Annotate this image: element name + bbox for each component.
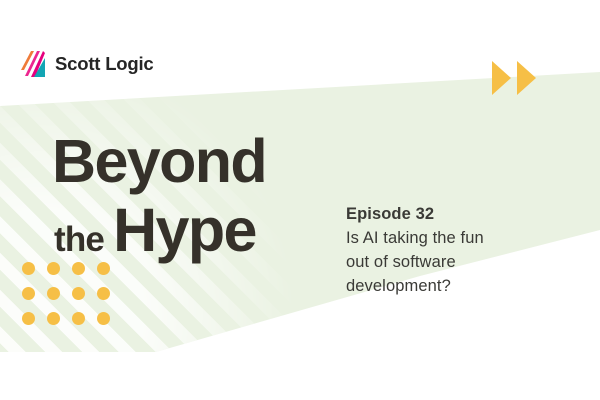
chevron-decoration-group [492, 61, 536, 95]
grid-dot [22, 287, 35, 300]
grid-dot [22, 312, 35, 325]
dot-grid-decoration [22, 262, 110, 325]
episode-info: Episode 32 Is AI taking the fun out of s… [346, 203, 484, 299]
show-title-the: the [54, 222, 104, 257]
scott-logic-swoosh-icon [20, 50, 46, 78]
play-chevron-icon [492, 61, 511, 95]
episode-title-line: out of software [346, 251, 484, 275]
grid-dot [72, 262, 85, 275]
grid-dot [97, 287, 110, 300]
show-title-line-1: Beyond [52, 131, 266, 192]
episode-title-line: development? [346, 275, 484, 299]
grid-dot [97, 262, 110, 275]
grid-dot [72, 312, 85, 325]
grid-dot [22, 262, 35, 275]
grid-dot [47, 262, 60, 275]
show-title-line-2: the Hype [54, 200, 266, 261]
brand-logo-lockup[interactable]: Scott Logic [20, 50, 154, 78]
grid-dot [47, 312, 60, 325]
grid-dot [97, 312, 110, 325]
grid-dot [47, 287, 60, 300]
play-chevron-icon [517, 61, 536, 95]
episode-artwork-canvas: Scott Logic Beyond the Hype [0, 0, 600, 400]
show-title-hype: Hype [113, 200, 256, 261]
episode-title: Is AI taking the fun out of software dev… [346, 227, 484, 299]
grid-dot [72, 287, 85, 300]
show-title: Beyond the Hype [52, 131, 266, 261]
episode-number: Episode 32 [346, 203, 484, 227]
episode-title-line: Is AI taking the fun [346, 227, 484, 251]
brand-wordmark: Scott Logic [55, 55, 154, 74]
